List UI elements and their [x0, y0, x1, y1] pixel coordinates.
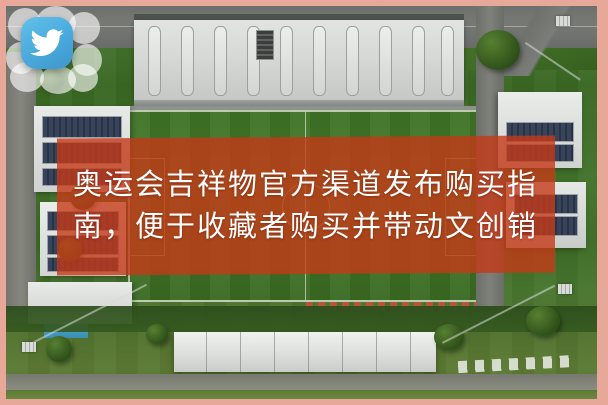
photo-floodlight-head: [556, 16, 570, 26]
photo-long-shed: [174, 332, 436, 372]
headline-banner: 奥运会吉祥物官方渠道发布购买指 南，便于收藏者购买并带动文创销: [57, 135, 555, 275]
headline-line-2: 南，便于收藏者购买并带动文创销: [73, 210, 538, 244]
photo-tree: [46, 336, 72, 362]
photo-arena-vent: [256, 30, 274, 60]
social-media-image-card: 奥运会吉祥物官方渠道发布购买指 南，便于收藏者购买并带动文创销: [0, 0, 608, 405]
photo-tree: [526, 306, 560, 336]
photo-tree: [146, 324, 168, 344]
headline-line-1: 奥运会吉祥物官方渠道发布购买指: [73, 168, 538, 202]
photo-arena-roof: [134, 20, 464, 100]
photo-path: [6, 374, 597, 390]
photo-floodlight-head: [22, 342, 36, 352]
photo-floodlight-head: [558, 284, 572, 294]
photo-grass-bottom: [6, 390, 597, 399]
photo-tree: [40, 68, 62, 90]
twitter-icon[interactable]: [21, 17, 73, 69]
photo-tree: [476, 30, 520, 70]
twitter-bird-glyph: [30, 26, 64, 60]
